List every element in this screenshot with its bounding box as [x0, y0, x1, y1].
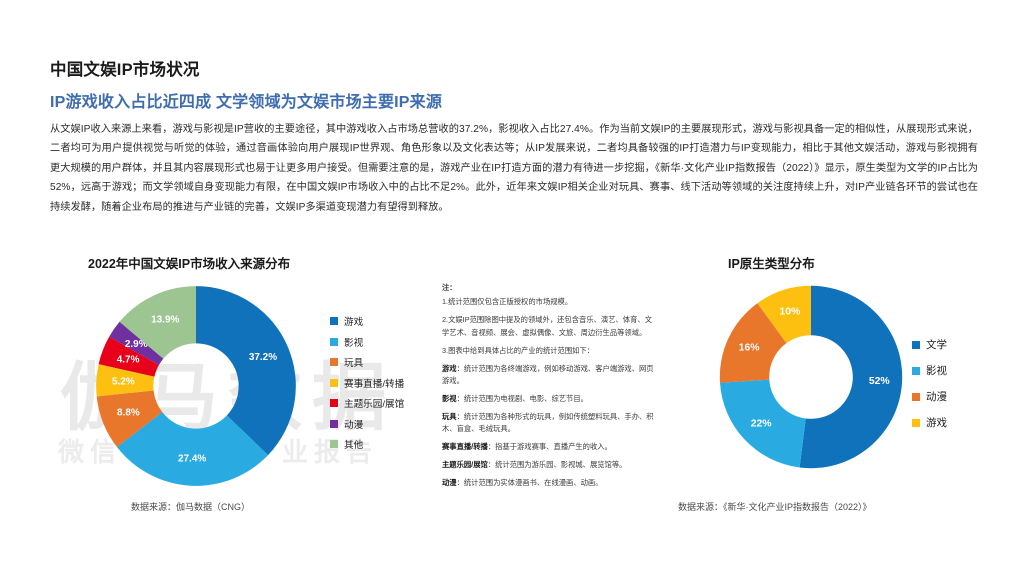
notes-block: 注： 1.统计范围仅包含正版授权的市场规模。2.文娱IP范围除图中提及的领域外，…: [442, 282, 654, 495]
page-subtitle: IP游戏收入占比近四成 文学领域为文娱市场主要IP来源: [50, 88, 442, 112]
note-desc: ：统计范围为实体漫画书、在线漫画、动画。: [457, 478, 603, 487]
pie-slice-label: 4.7%: [117, 354, 140, 365]
note-term: 赛事直播/转播: [442, 442, 488, 451]
legend-label: 主题乐园/展馆: [344, 396, 404, 410]
legend-swatch-icon: [912, 419, 920, 427]
legend-item[interactable]: 主题乐园/展馆: [330, 396, 404, 410]
note-term: 影视: [442, 394, 457, 403]
chart-title-left: 2022年中国文娱IP市场收入来源分布: [88, 253, 290, 272]
note-desc: ：指基于游戏赛事、直播产生的收入。: [488, 442, 612, 451]
legend-item[interactable]: 文学: [912, 337, 947, 352]
pie-slice-label: 16%: [739, 343, 760, 354]
note-item: 2.文娱IP范围除图中提及的领域外，还包含音乐、演艺、体育、文学艺术、音视频、展…: [442, 314, 654, 339]
pie-slice-label: 27.4%: [178, 453, 206, 464]
pie-slice-label: 22%: [751, 419, 772, 430]
donut-chart-revenue-sources: 37.2%27.4%8.8%5.2%4.7%2.9%13.9%: [92, 282, 300, 490]
legend-item[interactable]: 赛事直播/转播: [330, 376, 404, 390]
legend-item[interactable]: 动漫: [912, 389, 947, 404]
legend-swatch-icon: [330, 379, 338, 387]
slide-canvas: 伽马数据 微信号：游戏产业报告 中国文娱IP市场状况 IP游戏收入占比近四成 文…: [0, 0, 1024, 576]
note-item: 1.统计范围仅包含正版授权的市场规模。: [442, 296, 654, 308]
legend-swatch-icon: [912, 393, 920, 401]
legend-item[interactable]: 影视: [330, 335, 404, 349]
note-term: 游戏: [442, 364, 457, 373]
note-definition: 玩具：统计范围为各种形式的玩具，例如传统塑料玩具、手办、积木、盲盒、毛绒玩具。: [442, 411, 654, 436]
legend-revenue-sources: 游戏影视玩具赛事直播/转播主题乐园/展馆动漫其他: [330, 314, 404, 458]
body-paragraph: 从文娱IP收入来源上来看，游戏与影视是IP营收的主要途径，其中游戏收入占市场总营…: [50, 120, 978, 217]
pie-slice-label: 37.2%: [249, 352, 277, 363]
legend-swatch-icon: [330, 317, 338, 325]
legend-label: 游戏: [344, 314, 363, 328]
legend-label: 赛事直播/转播: [344, 376, 404, 390]
pie-slice-label: 5.2%: [112, 376, 135, 387]
legend-swatch-icon: [330, 420, 338, 428]
pie-slice-label: 10%: [779, 307, 800, 318]
legend-item[interactable]: 影视: [912, 363, 947, 378]
legend-item[interactable]: 玩具: [330, 355, 404, 369]
chart-title-right: IP原生类型分布: [728, 253, 815, 272]
legend-swatch-icon: [330, 358, 338, 366]
legend-swatch-icon: [330, 338, 338, 346]
donut-svg-left: 37.2%27.4%8.8%5.2%4.7%2.9%13.9%: [92, 282, 300, 490]
legend-label: 文学: [926, 337, 947, 352]
legend-label: 动漫: [926, 389, 947, 404]
note-item: 3.图表中给到具体占比的产业的统计范围如下：: [442, 345, 654, 357]
notes-definitions: 游戏：统计范围为各终端游戏，例如移动游戏、客户端游戏、网页游戏。影视：统计范围为…: [442, 363, 654, 490]
note-definition: 主题乐园/展馆：统计范围为游乐园、影视城、展览馆等。: [442, 459, 654, 471]
note-desc: ：统计范围为各终端游戏，例如移动游戏、客户端游戏、网页游戏。: [442, 364, 654, 385]
source-note-right: 数据来源：《新华·文化产业IP指数报告（2022）》: [678, 500, 872, 513]
source-note-left: 数据来源：伽马数据（CNG）: [131, 500, 250, 513]
legend-swatch-icon: [912, 341, 920, 349]
legend-item[interactable]: 其他: [330, 437, 404, 451]
legend-label: 影视: [344, 335, 363, 349]
note-desc: ：统计范围为游乐园、影视城、展览馆等。: [488, 460, 627, 469]
page-title: 中国文娱IP市场状况: [50, 56, 200, 80]
note-desc: ：统计范围为各种形式的玩具，例如传统塑料玩具、手办、积木、盲盒、毛绒玩具。: [442, 412, 654, 433]
legend-ip-origin-types: 文学影视动漫游戏: [912, 337, 947, 441]
donut-svg-right: 52%22%16%10%: [716, 282, 906, 472]
notes-title: 注：: [442, 282, 654, 294]
note-term: 玩具: [442, 412, 457, 421]
note-definition: 游戏：统计范围为各终端游戏，例如移动游戏、客户端游戏、网页游戏。: [442, 363, 654, 388]
note-term: 主题乐园/展馆: [442, 460, 488, 469]
notes-items: 1.统计范围仅包含正版授权的市场规模。2.文娱IP范围除图中提及的领域外，还包含…: [442, 296, 654, 357]
pie-slice-label: 8.8%: [117, 408, 140, 419]
legend-item[interactable]: 游戏: [912, 415, 947, 430]
legend-label: 玩具: [344, 355, 363, 369]
legend-item[interactable]: 动漫: [330, 417, 404, 431]
note-definition: 影视：统计范围为电视剧、电影、综艺节目。: [442, 393, 654, 405]
legend-label: 其他: [344, 437, 363, 451]
legend-label: 影视: [926, 363, 947, 378]
pie-slice-label: 13.9%: [151, 315, 179, 326]
note-term: 动漫: [442, 478, 457, 487]
note-definition: 赛事直播/转播：指基于游戏赛事、直播产生的收入。: [442, 441, 654, 453]
legend-swatch-icon: [330, 399, 338, 407]
legend-swatch-icon: [330, 440, 338, 448]
pie-slice-label: 52%: [869, 376, 890, 387]
legend-swatch-icon: [912, 367, 920, 375]
donut-chart-ip-origin-types: 52%22%16%10%: [716, 282, 906, 472]
legend-label: 动漫: [344, 417, 363, 431]
legend-item[interactable]: 游戏: [330, 314, 404, 328]
legend-label: 游戏: [926, 415, 947, 430]
note-definition: 动漫：统计范围为实体漫画书、在线漫画、动画。: [442, 477, 654, 489]
note-desc: ：统计范围为电视剧、电影、综艺节目。: [457, 394, 588, 403]
